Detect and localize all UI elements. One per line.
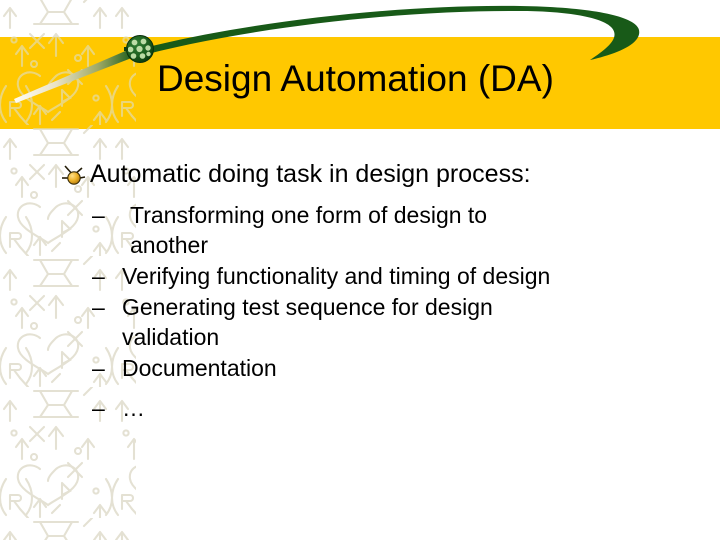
sub-bullet-line1: … [122,395,146,421]
sub-bullet-line2: another [130,230,630,260]
gold-sphere-bullet-icon [62,165,86,187]
sub-bullet-line1: Transforming one form of design to [130,202,487,228]
sub-bullet-text: Generating test sequence for design vali… [122,292,622,352]
sub-bullet-line1: Documentation [122,355,277,381]
presentation-slide: Design Automation (DA) [0,0,720,540]
sub-bullet-text: Documentation [122,353,622,383]
en-dash-marker: – [92,393,105,423]
en-dash-marker: – [92,292,105,322]
sub-bullet-text: … [122,393,622,423]
en-dash-marker: – [92,353,105,383]
page-title: Design Automation (DA) [157,56,697,102]
slide-body: Automatic doing task in design process: … [0,158,720,424]
sub-bullet-item: – Verifying functionality and timing of … [0,261,720,291]
en-dash-marker: – [92,261,105,291]
sub-bullet-text: Verifying functionality and timing of de… [122,261,622,291]
sub-bullet-item: – Generating test sequence for design va… [0,292,720,352]
sub-bullet-list: – Transforming one form of design to ano… [0,200,720,423]
bullet-level1-text: Automatic doing task in design process: [90,158,720,190]
sub-bullet-item: – … [0,393,720,423]
sub-bullet-line2: validation [122,322,622,352]
bullet-level1: Automatic doing task in design process: [0,158,720,192]
sub-bullet-line1: Verifying functionality and timing of de… [122,263,550,289]
en-dash-marker: – [92,200,105,230]
sub-bullet-text: Transforming one form of design to anoth… [122,200,630,260]
sub-bullet-line1: Generating test sequence for design [122,294,493,320]
sub-bullet-item: – Documentation [0,353,720,383]
sub-bullet-item: – Transforming one form of design to ano… [0,200,720,260]
